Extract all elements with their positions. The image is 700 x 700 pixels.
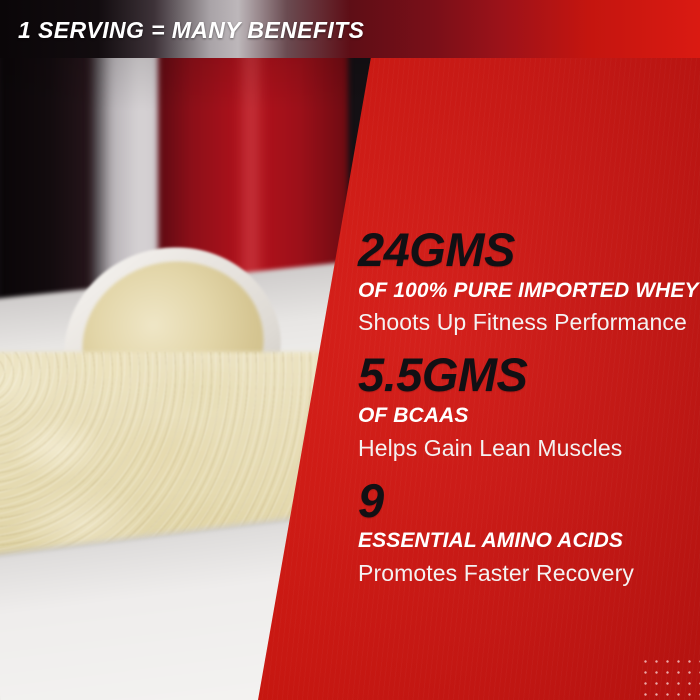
benefit-item: 5.5GMS OF BCAAS Helps Gain Lean Muscles [358, 350, 698, 463]
benefit-amount: 24GMS [358, 225, 698, 275]
benefit-amount: 5.5GMS [358, 350, 698, 400]
benefit-description: Helps Gain Lean Muscles [358, 434, 698, 464]
page-title: 1 SERVING = MANY BENEFITS [18, 17, 364, 44]
benefit-subtitle: OF 100% PURE IMPORTED WHEY [358, 278, 698, 304]
benefit-subtitle: ESSENTIAL AMINO ACIDS [358, 528, 698, 554]
benefits-list: 24GMS OF 100% PURE IMPORTED WHEY Shoots … [358, 225, 698, 589]
benefit-description: Shoots Up Fitness Performance [358, 308, 698, 338]
benefit-amount: 9 [358, 476, 698, 526]
benefit-item: 9 ESSENTIAL AMINO ACIDS Promotes Faster … [358, 476, 698, 589]
benefit-item: 24GMS OF 100% PURE IMPORTED WHEY Shoots … [358, 225, 698, 338]
product-benefits-poster: 1 SERVING = MANY BENEFITS 24GMS OF 100% … [0, 0, 700, 700]
dot-grid-bottom-right-icon [638, 654, 700, 700]
benefit-subtitle: OF BCAAS [358, 403, 698, 429]
benefit-description: Promotes Faster Recovery [358, 559, 698, 589]
